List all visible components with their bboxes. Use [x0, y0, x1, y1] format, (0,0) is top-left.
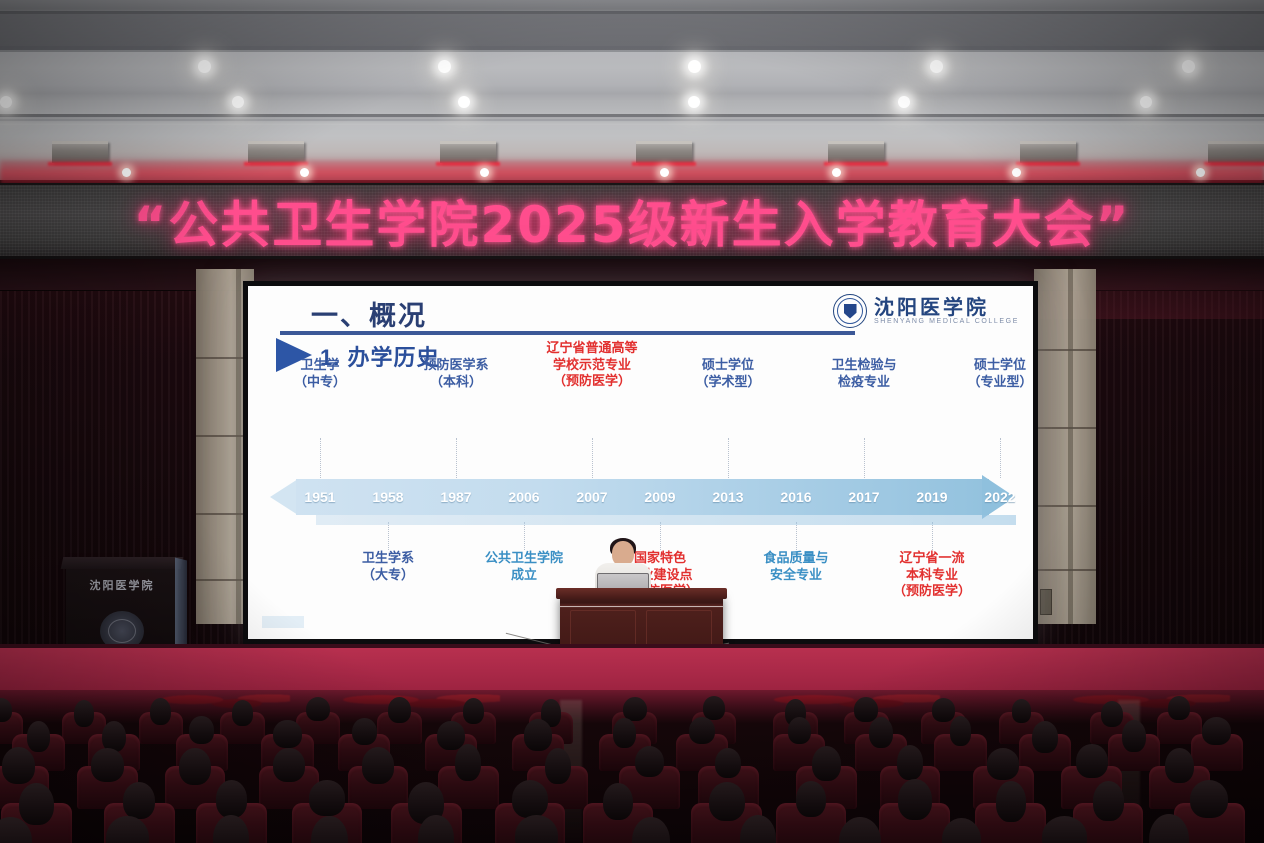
timeline-year: 2006 — [508, 489, 539, 505]
timeline-label: 预防医学系（本科） — [423, 357, 488, 390]
desk-top — [556, 588, 727, 599]
ceiling-light — [198, 60, 211, 73]
audience-member — [635, 746, 664, 777]
audience-member — [545, 748, 571, 785]
audience-member — [309, 780, 344, 815]
ceiling-light — [688, 96, 700, 108]
audience-member — [123, 782, 155, 820]
audience-member — [1190, 780, 1228, 818]
timeline-year: 2016 — [780, 489, 811, 505]
ceiling-light — [0, 96, 12, 108]
audience-member — [524, 719, 553, 751]
audience-member — [91, 748, 124, 782]
timeline-label: 卫生检验与检疫专业 — [831, 357, 896, 390]
ceiling-light — [660, 168, 669, 177]
timeline-year: 2022 — [984, 489, 1015, 505]
audience-member — [1032, 721, 1058, 753]
ceiling-band-upper — [0, 14, 1264, 46]
connector-line — [388, 522, 389, 550]
ceiling-light — [1012, 168, 1021, 177]
ceiling-light — [122, 168, 131, 177]
audience-member — [463, 698, 484, 724]
wall-panel-right — [1034, 269, 1096, 624]
timeline-shadow — [316, 515, 1016, 525]
timeline-year: 1987 — [440, 489, 471, 505]
ceiling-light — [480, 168, 489, 177]
auditorium-photo: “公共卫生学院2025级新生入学教育大会” 一、概况 1. 办学历史 — [0, 0, 1264, 843]
connector-line — [864, 438, 865, 478]
audience-member — [455, 744, 481, 781]
timeline-year: 1958 — [372, 489, 403, 505]
timeline-year: 2019 — [916, 489, 947, 505]
audience-member — [27, 721, 50, 752]
audience-member — [362, 747, 395, 784]
audience-member — [102, 721, 126, 752]
ceiling-light — [1196, 168, 1205, 177]
connector-line — [932, 522, 933, 550]
audience-member — [603, 783, 633, 821]
logo-name-cn: 沈阳医学院 — [874, 297, 1019, 318]
audience-member — [189, 716, 214, 744]
audience-member — [179, 748, 211, 785]
connector-line — [660, 522, 661, 550]
timeline-label: 公共卫生学院成立 — [485, 550, 563, 583]
timeline-label: 硕士学位（专业型） — [967, 357, 1032, 390]
lectern-top — [61, 557, 184, 569]
audience-member — [273, 748, 304, 782]
audience-member — [388, 697, 411, 723]
timeline-year: 1951 — [304, 489, 335, 505]
timeline-label: 硕士学位（学术型） — [695, 357, 760, 390]
timeline-tail — [270, 479, 298, 515]
audience-member — [689, 717, 715, 744]
timeline-year: 2009 — [644, 489, 675, 505]
connector-line — [728, 438, 729, 478]
banner-text: “公共卫生学院2025级新生入学教育大会” — [134, 185, 1131, 257]
timeline-label: 辽宁省一流本科专业（预防医学） — [893, 550, 971, 600]
audience-member — [932, 698, 956, 722]
audience-member — [2, 747, 35, 784]
connector-line — [592, 438, 593, 478]
audience-member — [788, 717, 811, 744]
title-divider — [280, 331, 855, 335]
audience-member — [1093, 781, 1124, 821]
ceiling-light — [1140, 96, 1152, 108]
timeline-year: 2007 — [576, 489, 607, 505]
ceiling-light — [898, 96, 910, 108]
audience-member — [19, 783, 53, 826]
audience-member — [869, 717, 893, 748]
college-logo: 沈阳医学院 SHENYANG MEDICAL COLLEGE — [833, 294, 1019, 328]
audience-member — [613, 718, 636, 748]
ceiling-light — [930, 60, 943, 73]
crest-icon — [833, 294, 867, 328]
slide-title: 一、概况 — [311, 294, 427, 333]
ceiling — [0, 0, 1264, 180]
ceiling-seam — [0, 11, 1264, 14]
ceiling-light — [458, 96, 470, 108]
ceiling-light — [232, 96, 244, 108]
timeline-label: 卫生学（中专） — [294, 357, 346, 390]
timeline-year: 2017 — [848, 489, 879, 505]
ceiling-light — [688, 60, 701, 73]
ceiling-light — [438, 60, 451, 73]
audience-member — [1076, 744, 1108, 778]
led-banner: “公共卫生学院2025级新生入学教育大会” — [0, 183, 1264, 259]
lectern-name: 沈阳医学院 — [66, 577, 178, 593]
audience-member — [897, 745, 924, 780]
ceiling-seam — [0, 50, 1264, 52]
audience-member — [996, 781, 1026, 821]
audience-member — [1165, 748, 1194, 784]
connector-line — [1000, 438, 1001, 478]
audience-member — [812, 746, 841, 781]
audience-member — [273, 720, 301, 748]
timeline-year: 2013 — [712, 489, 743, 505]
connector-line — [524, 522, 525, 550]
timeline-label: 卫生学系（大专） — [362, 550, 414, 583]
shield-icon — [844, 304, 857, 319]
timeline-label: 辽宁省普通高等学校示范专业（预防医学） — [546, 340, 637, 390]
audience-member — [715, 748, 741, 779]
timeline-label: 食品质量与安全专业 — [763, 550, 828, 583]
slide-corner-accent — [262, 616, 304, 628]
audience-member — [898, 779, 932, 820]
audience-member — [512, 780, 548, 818]
audience-member — [950, 716, 972, 745]
audience-member — [232, 700, 254, 726]
audience-member — [216, 780, 248, 818]
audience — [0, 690, 1264, 843]
ceiling-light — [832, 168, 841, 177]
audience-member — [74, 700, 94, 727]
audience-member — [796, 781, 826, 817]
audience-member — [150, 698, 171, 725]
audience-member — [709, 782, 745, 822]
logo-name-en: SHENYANG MEDICAL COLLEGE — [874, 318, 1019, 325]
ceiling-light — [1182, 60, 1195, 73]
ceiling-light — [300, 168, 309, 177]
connector-line — [796, 522, 797, 550]
ceiling-seam — [0, 114, 1264, 117]
audience-member — [1202, 717, 1230, 745]
audience-member — [306, 697, 330, 722]
audience-member — [1168, 696, 1190, 720]
audience-member — [987, 748, 1019, 780]
ceiling-seam — [0, 119, 1264, 121]
connector-line — [320, 438, 321, 478]
audience-member — [352, 718, 377, 746]
audience-member — [1012, 699, 1032, 722]
audience-member — [740, 815, 776, 843]
audience-member — [0, 698, 12, 722]
connector-line — [456, 438, 457, 478]
audience-member — [1122, 720, 1145, 752]
audience-member — [1101, 701, 1124, 728]
